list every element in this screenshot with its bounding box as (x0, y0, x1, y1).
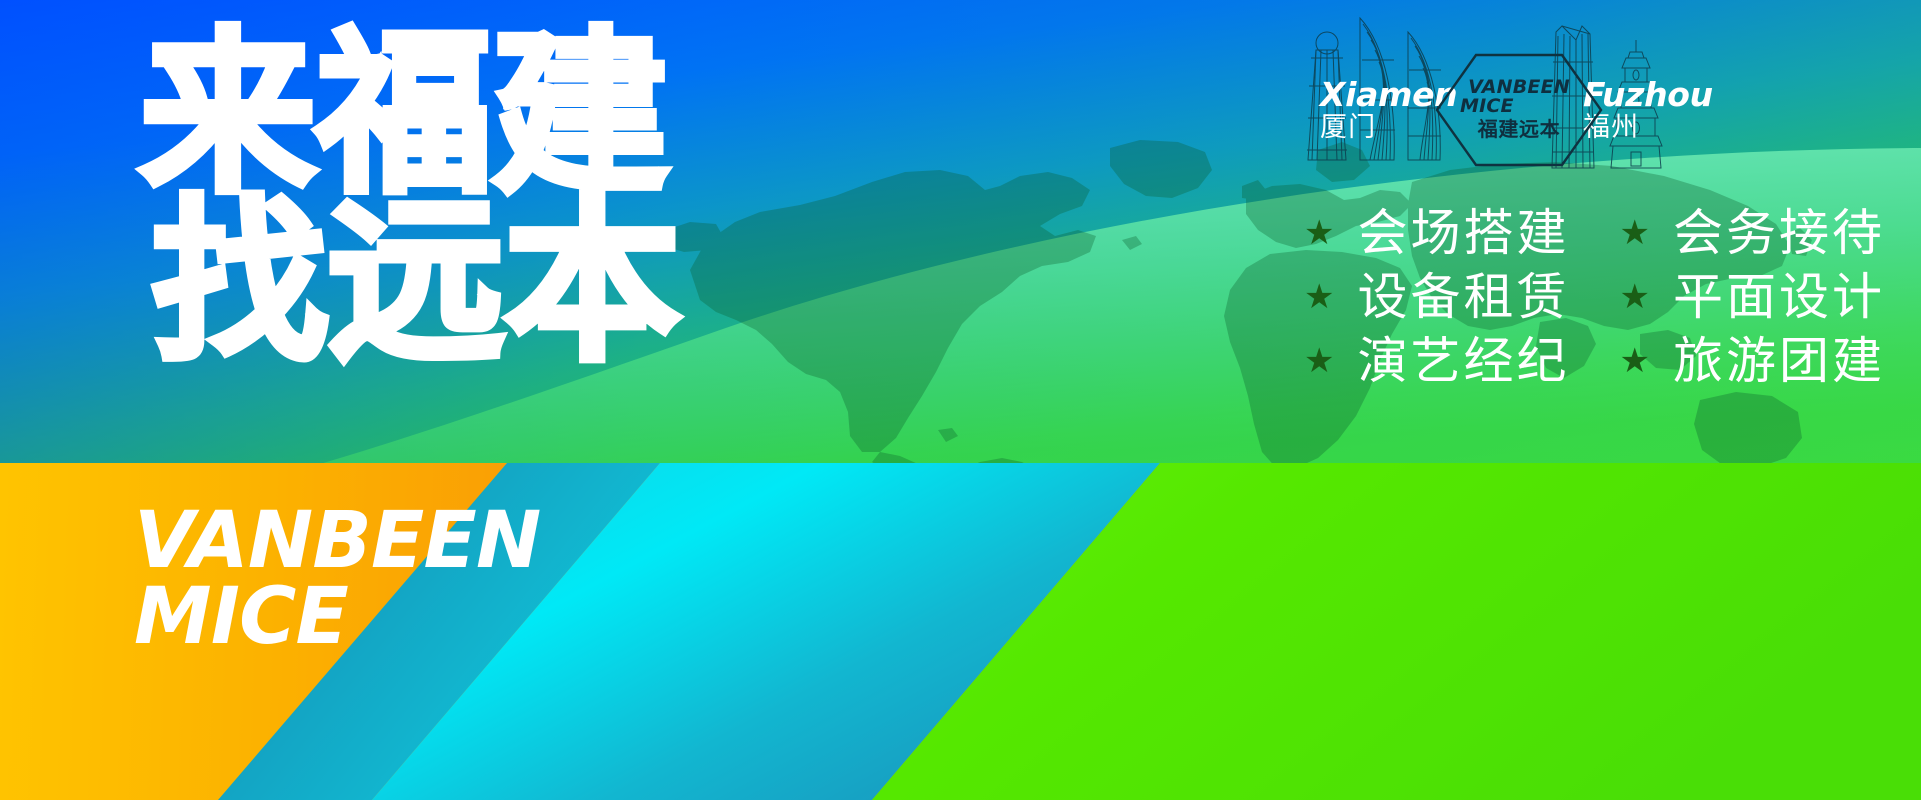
service-label: 演艺经纪 (1358, 336, 1570, 386)
star-icon: ★ (1620, 344, 1653, 378)
star-icon: ★ (1304, 344, 1337, 378)
service-item-2: ★ 设备租赁 (1304, 272, 1569, 322)
service-label: 平面设计 (1673, 272, 1885, 322)
headline-line-1: 来福建 (140, 34, 680, 196)
headline: 来福建 找远本 (140, 34, 680, 364)
star-icon: ★ (1620, 280, 1653, 314)
hex-logo-text: VANBEEN MICE 福建远本 (1434, 52, 1604, 168)
service-label: 设备租赁 (1358, 272, 1570, 322)
service-label: 会务接待 (1673, 208, 1885, 258)
bottom-brand-bar: VANBEEN MICE (0, 463, 1921, 800)
service-item-1: ★ 会务接待 (1620, 208, 1885, 258)
brand-wordmark: VANBEEN MICE (134, 503, 541, 656)
star-icon: ★ (1304, 216, 1337, 250)
star-icon: ★ (1304, 280, 1337, 314)
promo-banner: 来福建 找远本 ★ 会场搭建 ★ 会务接待 ★ 设备租赁 ★ 平面设计 ★ 演艺… (0, 0, 1921, 800)
service-item-3: ★ 平面设计 (1620, 272, 1885, 322)
service-list: ★ 会场搭建 ★ 会务接待 ★ 设备租赁 ★ 平面设计 ★ 演艺经纪 ★ 旅游团… (1304, 208, 1885, 386)
service-item-4: ★ 演艺经纪 (1304, 336, 1569, 386)
headline-line-2: 找远本 (140, 202, 680, 364)
hex-logo-line-3: 福建远本 (1478, 117, 1560, 142)
service-label: 旅游团建 (1673, 336, 1885, 386)
brand-line-2: MICE (134, 579, 541, 655)
service-item-0: ★ 会场搭建 (1304, 208, 1569, 258)
service-label: 会场搭建 (1358, 208, 1570, 258)
hex-logo-line-2: MICE (1460, 97, 1514, 116)
service-item-5: ★ 旅游团建 (1620, 336, 1885, 386)
vanbeen-hex-logo: VANBEEN MICE 福建远本 (1434, 52, 1604, 168)
star-icon: ★ (1620, 216, 1653, 250)
